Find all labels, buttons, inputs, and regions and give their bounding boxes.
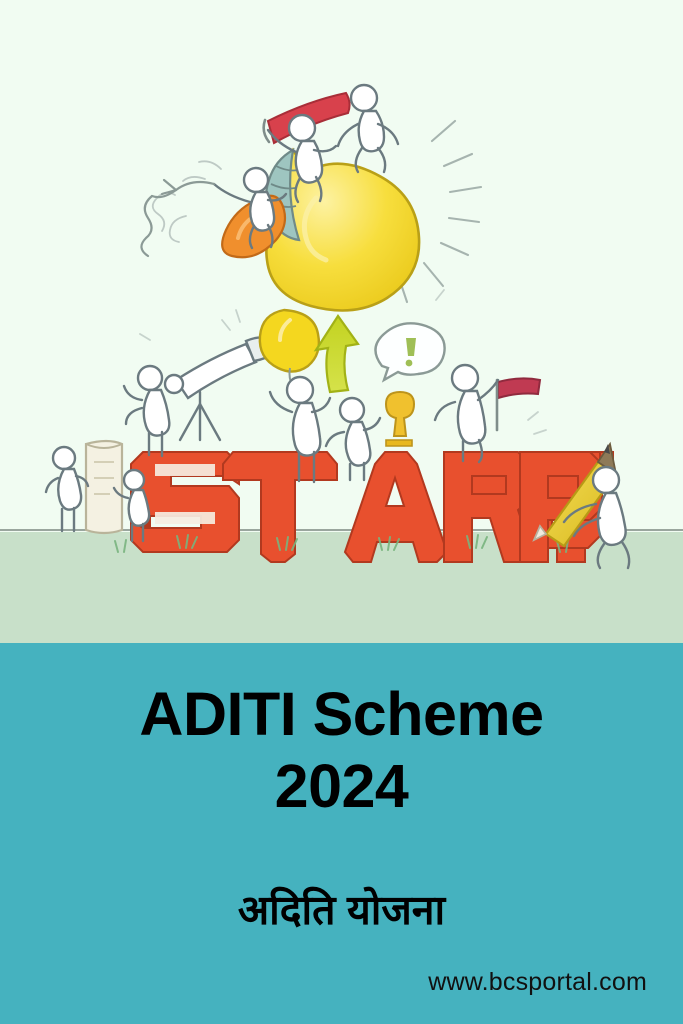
lightbulb-rocket-group <box>141 85 481 311</box>
telescope-figure-group <box>124 337 274 456</box>
title-line-2: 2024 <box>0 751 683 823</box>
title-line-1: ADITI Scheme <box>139 680 543 748</box>
caption-band: ADITI Scheme 2024 अदिति योजना www.bcspor… <box>0 643 683 1024</box>
website-url: www.bcsportal.com <box>428 968 647 997</box>
startup-word-art <box>131 440 613 562</box>
gold-trophy-icon <box>386 392 414 446</box>
flag-figure-group <box>435 365 540 462</box>
stick-figure-scroll-holder-left <box>46 447 88 531</box>
telescope-icon <box>165 337 274 440</box>
stick-figure-flag-bearer <box>435 365 498 462</box>
letter-T <box>223 452 337 562</box>
speech-bubble-group <box>375 323 444 380</box>
paper-scroll-icon <box>86 441 122 533</box>
page-title: ADITI Scheme 2024 <box>0 679 683 823</box>
crimson-flag-icon <box>497 378 540 430</box>
letter-R <box>444 452 532 562</box>
subtitle-hindi: अदिति योजना <box>0 881 683 937</box>
illustration-panel <box>0 0 683 643</box>
rope-line <box>141 180 214 256</box>
startup-doodle-illustration <box>0 0 683 643</box>
stick-figure-astronomer <box>124 366 169 456</box>
poster-root: ADITI Scheme 2024 अदिति योजना www.bcspor… <box>0 0 683 1024</box>
green-up-arrow-icon <box>316 316 358 392</box>
exhaust-trail-icon <box>153 161 221 242</box>
